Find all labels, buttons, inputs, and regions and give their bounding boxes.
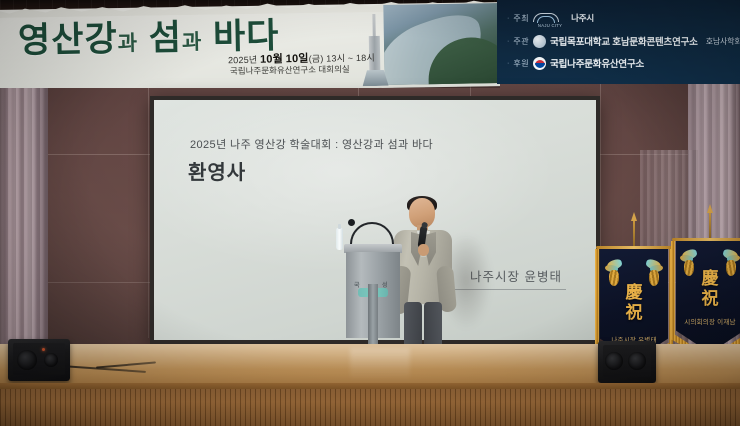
phoenix-icon [644, 260, 663, 286]
banner-crossbar [672, 238, 740, 241]
sponsor-name-organizer-secondary: 호남사학회 [706, 36, 740, 47]
sponsor-row-support: · 후원 국립나주문화유산연구소 [507, 56, 644, 70]
bullet-icon: · [507, 60, 509, 67]
banner-pole [633, 218, 635, 248]
speaker-cone [605, 352, 623, 370]
banner-character-top: 慶 [600, 284, 668, 302]
sponsor-tag-host: 주최 [513, 13, 529, 24]
banner-character-bottom: 祝 [676, 290, 740, 308]
bullet-icon: · [507, 15, 509, 22]
phoenix-icon [605, 260, 624, 286]
banner-venue: 국립나주문화유산연구소 대회의실 [230, 63, 350, 77]
bullet-icon: · [507, 38, 509, 45]
sponsor-name-organizer: 국립목포대학교 호남문화콘텐츠연구소 [550, 34, 698, 48]
banner-character-bottom: 祝 [600, 304, 668, 322]
banner-time-range: 13시 ~ 18시 [326, 53, 375, 64]
naju-city-logo-text: NAJU CITY [533, 23, 567, 28]
banner-pole [709, 210, 711, 240]
banner-crossbar [596, 246, 672, 249]
hand [418, 244, 429, 256]
mokpo-university-crest [533, 35, 546, 48]
podium-reflection [350, 348, 410, 382]
banner-name: 시의회의장 이재남 [676, 316, 740, 326]
sponsor-row-host: · 주최 NAJU CITY 나주시 [507, 12, 594, 24]
torso [394, 230, 452, 304]
sponsor-row-organizer: · 주관 국립목포대학교 호남문화콘텐츠연구소 호남사학회 [507, 34, 740, 48]
slide-title: 환영사 [188, 156, 246, 185]
speaker-cone [44, 353, 58, 367]
sponsor-name-host: 나주시 [571, 12, 594, 24]
sponsor-tag-support: 후원 [513, 58, 529, 69]
speaker-cone [17, 350, 37, 370]
banner-title-mid: 섬 [148, 18, 182, 58]
stage-front-panel [0, 389, 740, 426]
sponsor-panel: · 주최 NAJU CITY 나주시 · 주관 국립목포대학교 호남문화콘텐츠연… [497, 0, 740, 84]
banner-title-and1: 과 [118, 32, 139, 55]
river-landscape-photo [383, 3, 500, 85]
power-led-icon [42, 348, 45, 351]
event-banner: 영산강과 섬과 바다 2025년 10월 10일(금) 13시 ~ 18시 국립… [0, 0, 500, 88]
speaker-cone [628, 352, 646, 370]
stage-monitor-right [598, 341, 656, 383]
banner-date-weekday: (금) [309, 54, 324, 64]
korea-government-crest [533, 57, 546, 70]
stage-monitor-left [8, 339, 70, 381]
banner-character-top: 慶 [676, 270, 740, 288]
banner-title-main: 영산강 [18, 19, 118, 60]
sponsor-tag-organizer: 주관 [513, 36, 529, 47]
sponsor-name-support: 국립나주문화유산연구소 [550, 56, 644, 70]
conference-hall-photo: 영산강과 섬과 바다 2025년 10월 10일(금) 13시 ~ 18시 국립… [0, 0, 740, 426]
water-bottle-icon [336, 228, 343, 250]
slide-subtitle: 2025년 나주 영산강 학술대회 : 영산강과 섬과 바다 [190, 136, 433, 152]
naju-city-logo: NAJU CITY [533, 12, 567, 24]
banner-title-and2: 과 [182, 31, 203, 54]
